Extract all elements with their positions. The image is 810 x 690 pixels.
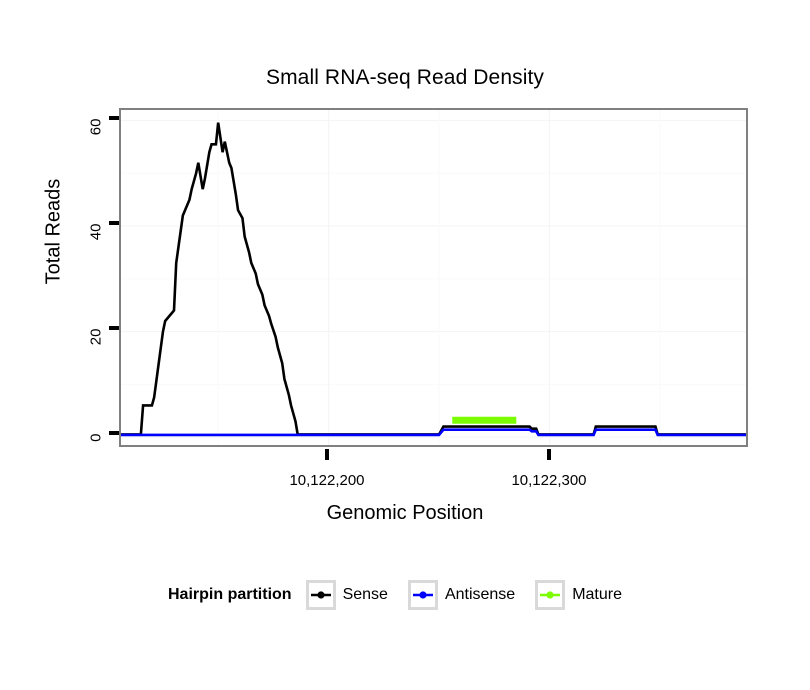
y-tick-label-20: 20	[89, 329, 104, 369]
legend-label-mature: Mature	[572, 586, 622, 604]
x-axis-title: Genomic Position	[0, 502, 810, 525]
legend-key-sense	[306, 580, 336, 610]
y-axis-title: Total Reads	[43, 112, 66, 352]
line-point-icon	[540, 588, 560, 602]
legend-key-mature	[535, 580, 565, 610]
legend-title: Hairpin partition	[168, 586, 292, 604]
y-tick-mark-20	[109, 326, 119, 330]
legend: Hairpin partition Sense Antisense	[0, 580, 810, 610]
plot-canvas	[121, 110, 746, 445]
y-tick-label-0: 0	[89, 434, 104, 474]
y-tick-mark-40	[109, 221, 119, 225]
legend-label-antisense: Antisense	[445, 586, 515, 604]
legend-item-sense[interactable]: Sense	[306, 580, 400, 610]
chart-figure: Small RNA-seq Read Density Total Reads 0…	[0, 0, 810, 690]
line-point-icon	[311, 588, 331, 602]
x-tick-label-2: 10,122,300	[469, 472, 629, 489]
x-tick-mark-2	[547, 449, 551, 460]
line-point-icon	[413, 588, 433, 602]
series-line-antisense	[121, 430, 746, 435]
x-tick-mark-1	[325, 449, 329, 460]
y-tick-label-40: 40	[89, 224, 104, 264]
legend-label-sense: Sense	[343, 586, 388, 604]
y-tick-mark-0	[109, 431, 119, 435]
x-tick-label-1: 10,122,200	[247, 472, 407, 489]
y-tick-label-60: 60	[89, 119, 104, 159]
legend-item-mature[interactable]: Mature	[535, 580, 634, 610]
legend-item-antisense[interactable]: Antisense	[408, 580, 527, 610]
gridlines	[121, 110, 746, 445]
plot-panel	[119, 108, 748, 447]
page-title: Small RNA-seq Read Density	[0, 66, 810, 90]
y-tick-mark-60	[109, 116, 119, 120]
legend-key-antisense	[408, 580, 438, 610]
